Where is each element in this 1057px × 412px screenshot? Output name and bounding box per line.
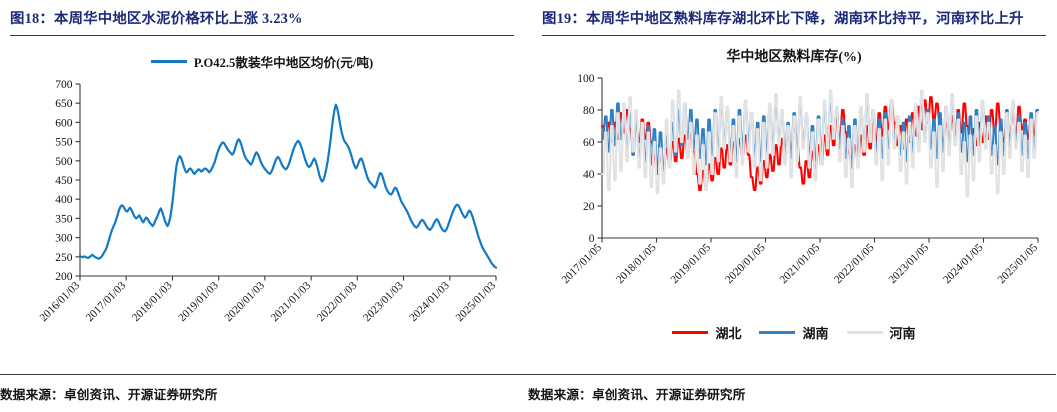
figure-19-plot: 0204060801002017/01/052018/01/052019/01/… <box>542 36 1046 348</box>
svg-text:2025/01/05: 2025/01/05 <box>996 241 1041 286</box>
legend-label-hubei: 湖北 <box>715 323 741 342</box>
svg-text:2024/01/05: 2024/01/05 <box>941 241 986 286</box>
svg-text:650: 650 <box>55 98 73 110</box>
svg-text:2024/01/03: 2024/01/03 <box>407 279 452 324</box>
svg-text:500: 500 <box>55 156 73 168</box>
legend-item-hunan: 湖南 <box>759 323 828 342</box>
svg-text:2018/01/03: 2018/01/03 <box>130 279 175 324</box>
figure-18-title: 图18：本周华中地区水泥价格环比上涨 3.23% <box>10 0 514 31</box>
legend-swatch-hunan <box>759 331 795 334</box>
svg-text:2018/01/05: 2018/01/05 <box>614 241 659 286</box>
figure-19-footer: 数据来源：卓创资讯、开源证券研究所 <box>528 374 1056 412</box>
svg-text:450: 450 <box>55 175 73 187</box>
svg-text:350: 350 <box>55 213 73 225</box>
legend-item-hubei: 湖北 <box>672 323 741 342</box>
figure-18-panel: 图18：本周华中地区水泥价格环比上涨 3.23% P.O42.5散装华中地区均价… <box>0 0 528 412</box>
svg-text:2020/01/03: 2020/01/03 <box>222 279 267 324</box>
figure-18-source: 数据来源：卓创资讯、开源证券研究所 <box>0 375 528 412</box>
figure-18-plot: 2002503003504004505005506006507002016/01… <box>10 36 514 348</box>
legend-swatch-henan <box>847 331 883 334</box>
figure-19-legend: 湖北 湖南 河南 <box>542 323 1046 342</box>
svg-text:2023/01/03: 2023/01/03 <box>361 279 406 324</box>
svg-text:600: 600 <box>55 117 73 129</box>
svg-text:2019/01/05: 2019/01/05 <box>669 241 714 286</box>
svg-text:250: 250 <box>55 252 73 264</box>
svg-text:2023/01/05: 2023/01/05 <box>887 241 932 286</box>
svg-text:40: 40 <box>583 169 595 181</box>
svg-text:550: 550 <box>55 136 73 148</box>
figure-19-chart-area: 华中地区熟料库存(%) 0204060801002017/01/052018/0… <box>542 36 1046 348</box>
figure-19-title: 图19：本周华中地区熟料库存湖北环比下降，湖南环比持平，河南环比上升 <box>542 0 1046 31</box>
legend-label-hunan: 湖南 <box>802 323 828 342</box>
svg-text:2017/01/03: 2017/01/03 <box>84 279 129 324</box>
svg-text:20: 20 <box>583 201 595 213</box>
legend-swatch-hubei <box>672 331 708 334</box>
svg-text:400: 400 <box>55 194 73 206</box>
svg-text:2019/01/03: 2019/01/03 <box>176 279 221 324</box>
svg-text:2021/01/05: 2021/01/05 <box>778 241 823 286</box>
svg-text:2017/01/05: 2017/01/05 <box>560 241 605 286</box>
svg-text:2022/01/03: 2022/01/03 <box>315 279 360 324</box>
svg-text:700: 700 <box>55 79 73 91</box>
figure-19-panel: 图19：本周华中地区熟料库存湖北环比下降，湖南环比持平，河南环比上升 华中地区熟… <box>528 0 1056 412</box>
figure-18-footer: 数据来源：卓创资讯、开源证券研究所 <box>0 374 528 412</box>
legend-item-henan: 河南 <box>847 323 916 342</box>
svg-text:300: 300 <box>55 232 73 244</box>
svg-text:2020/01/05: 2020/01/05 <box>723 241 768 286</box>
svg-text:100: 100 <box>577 73 595 85</box>
svg-text:60: 60 <box>583 137 595 149</box>
svg-text:80: 80 <box>583 105 595 117</box>
figure-19-source: 数据来源：卓创资讯、开源证券研究所 <box>528 375 1056 412</box>
figure-18-chart-area: P.O42.5散装华中地区均价(元/吨) 2002503003504004505… <box>10 36 514 348</box>
svg-text:2016/01/03: 2016/01/03 <box>38 279 83 324</box>
svg-text:2022/01/05: 2022/01/05 <box>832 241 877 286</box>
report-figures-page: 图18：本周华中地区水泥价格环比上涨 3.23% P.O42.5散装华中地区均价… <box>0 0 1057 412</box>
legend-label-henan: 河南 <box>890 323 916 342</box>
svg-text:200: 200 <box>55 271 73 283</box>
svg-text:2025/01/03: 2025/01/03 <box>454 279 499 324</box>
svg-text:2021/01/03: 2021/01/03 <box>269 279 314 324</box>
